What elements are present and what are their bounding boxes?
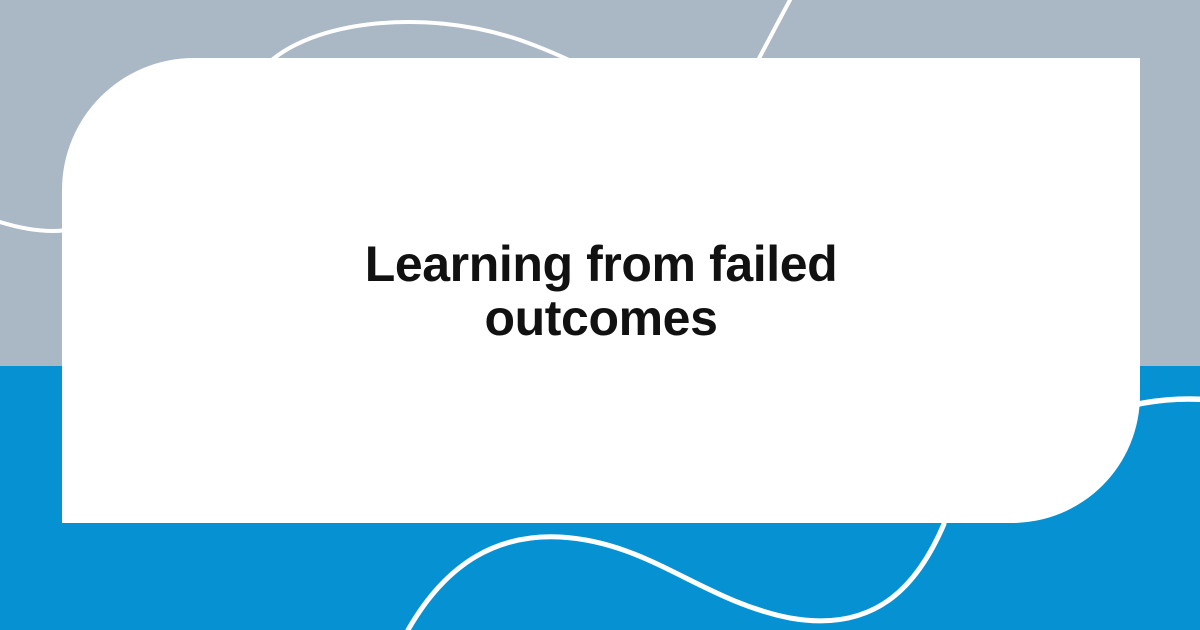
page-title: Learning from failed outcomes bbox=[245, 237, 957, 345]
banner-card-image: Learning from failed outcomes bbox=[0, 0, 1200, 630]
content-card: Learning from failed outcomes bbox=[62, 58, 1140, 523]
card-content: Learning from failed outcomes bbox=[221, 237, 981, 345]
